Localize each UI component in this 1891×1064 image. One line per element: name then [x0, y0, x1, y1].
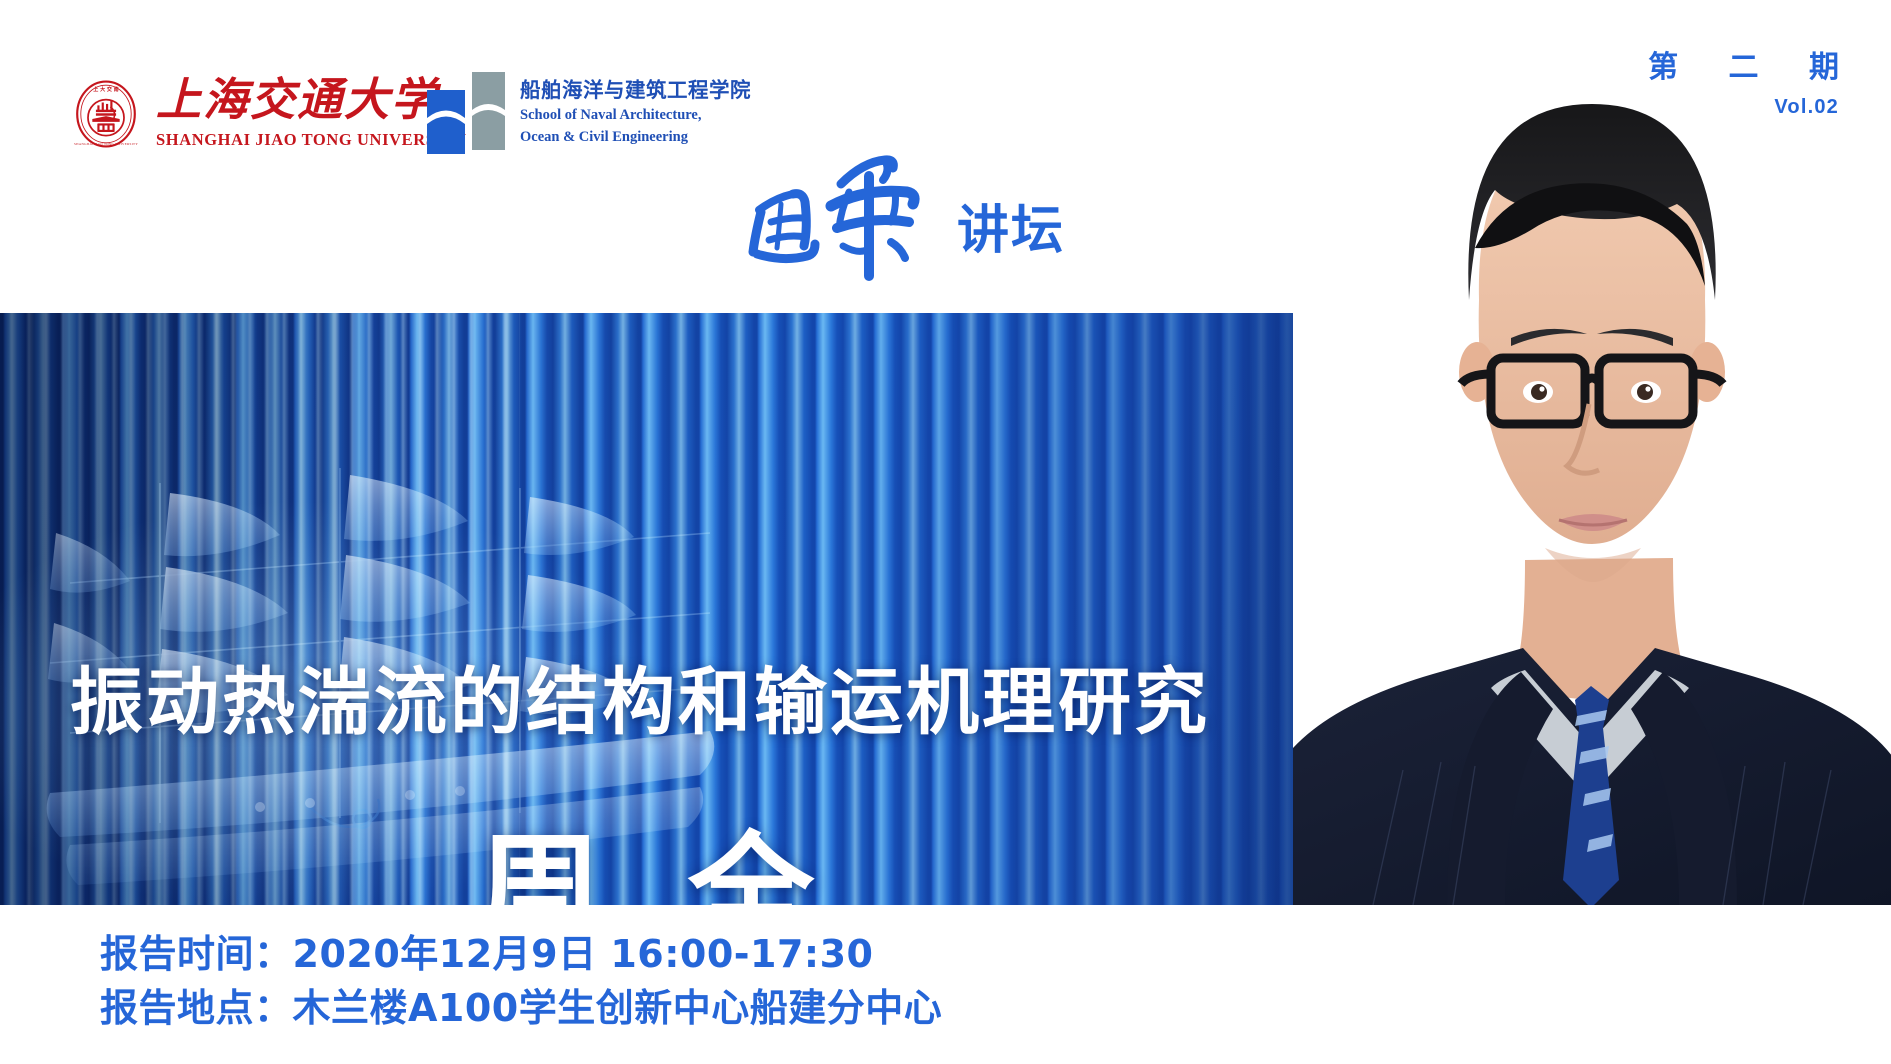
forum-name-rest: 讲坛 — [957, 205, 1065, 257]
speaker-portrait — [1293, 0, 1891, 905]
sjtu-name-en: SHANGHAI JIAO TONG UNIVERSITY — [156, 130, 467, 150]
issue-badge: 第 二 期 Vol.02 — [1648, 42, 1839, 119]
svg-text:SHANGHAI JIAO TONG UNIVERSITY: SHANGHAI JIAO TONG UNIVERSITY — [74, 142, 138, 146]
naoce-wave-mark-icon — [425, 70, 507, 156]
sjtu-emblem-icon: 上 大 交 南 SHANGHAI JIAO TONG UNIVERSITY — [70, 78, 142, 150]
naoce-logo: 船舶海洋与建筑工程学院 School of Naval Architecture… — [425, 70, 751, 156]
sjtu-logo: 上 大 交 南 SHANGHAI JIAO TONG UNIVERSITY 上海… — [70, 78, 467, 150]
forum-calligraphy-icon — [745, 150, 955, 285]
event-details: 报告时间：2020年12月9日 16:00-17:30 报告地点：木兰楼A100… — [100, 928, 942, 1036]
sjtu-logo-wordmark: 上海交通大学 SHANGHAI JIAO TONG UNIVERSITY — [156, 78, 467, 150]
lecture-poster: 上 大 交 南 SHANGHAI JIAO TONG UNIVERSITY 上海… — [0, 0, 1891, 1064]
naoce-name-cn: 船舶海洋与建筑工程学院 — [520, 79, 751, 102]
event-time: 报告时间：2020年12月9日 16:00-17:30 — [100, 928, 942, 982]
issue-number-cn: 第 二 期 — [1648, 42, 1859, 86]
issue-number-en: Vol.02 — [1648, 96, 1839, 119]
lecture-title: 振动热湍流的结构和输运机理研究 — [70, 666, 1210, 739]
speaker-name: 周全 — [0, 833, 1290, 905]
svg-text:上 大 交 南: 上 大 交 南 — [93, 86, 118, 93]
sjtu-name-cn: 上海交通大学 — [156, 78, 467, 123]
forum-brand: 讲坛 — [745, 150, 1065, 279]
event-place: 报告地点：木兰楼A100学生创新中心船建分中心 — [100, 982, 942, 1036]
naoce-logo-wordmark: 船舶海洋与建筑工程学院 School of Naval Architecture… — [520, 79, 751, 147]
naoce-name-en-line2: Ocean & Civil Engineering — [520, 128, 751, 147]
naoce-name-en-line1: School of Naval Architecture, — [520, 106, 751, 125]
